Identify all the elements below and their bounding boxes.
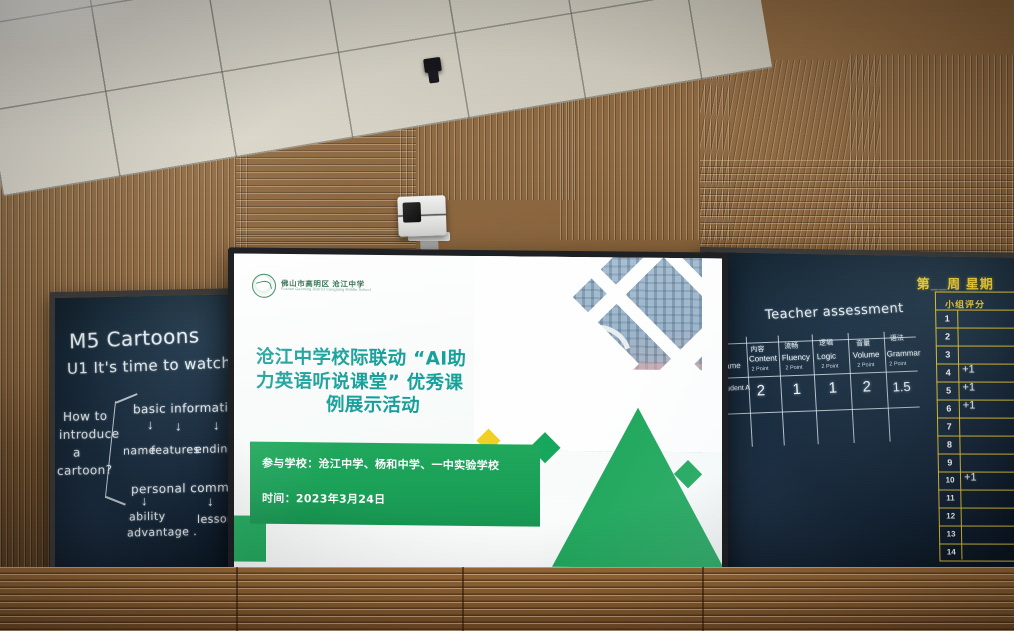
chalk-lesson-title: M5 Cartoons xyxy=(69,323,200,353)
row-number: 13 xyxy=(942,526,960,544)
ceiling-light-glow xyxy=(0,0,160,50)
blackboard-right: Teacher assessment Name 内容 Content 2 Poi… xyxy=(700,247,1014,578)
col-header-fluency-en: Fluency xyxy=(782,352,810,362)
col-header-volume-en: Volume xyxy=(853,350,880,360)
group-grid-mark: +1 xyxy=(962,382,975,394)
chalk-lesson-subtitle: U1 It's time to watch a cartoon. xyxy=(67,350,250,378)
school-logo: 佛山市高明区 沧江中学 Foshan Gaoming District Cang… xyxy=(252,274,371,299)
projector-lens-icon xyxy=(403,202,422,223)
blackboard-left: M5 Cartoons U1 It's time to watch a cart… xyxy=(50,288,250,578)
score-content: 2 xyxy=(756,382,765,399)
row-number: 11 xyxy=(941,490,959,508)
wainscot-section-3 xyxy=(462,567,702,631)
score-fluency: 1 xyxy=(792,381,801,398)
score-logic: 1 xyxy=(828,380,837,397)
teacher-assessment-table: Name 内容 Content 2 Point 流畅 Fluency 2 Poi… xyxy=(716,337,922,454)
score-grammar: 1.5 xyxy=(892,379,911,395)
col-header-logic-cn: 逻辑 xyxy=(819,338,834,349)
row-number: 9 xyxy=(941,453,959,471)
col-header-grammar-en: Grammar xyxy=(886,348,920,358)
col-header-logic-points: 2 Point xyxy=(821,363,838,370)
col-header-fluency-points: 2 Point xyxy=(785,365,802,372)
col-header-grammar-points: 2 Point xyxy=(889,361,906,368)
row-number: 6 xyxy=(940,399,958,417)
group-grid-mark: +1 xyxy=(962,364,975,376)
row-number: 14 xyxy=(942,544,960,562)
row-number: 3 xyxy=(939,345,957,363)
participating-schools: 参与学校：沧江中学、杨和中学、一中实验学校 xyxy=(262,455,499,473)
chalk-branch-features: features xyxy=(151,443,200,457)
school-logo-icon xyxy=(252,274,276,298)
col-header-fluency-cn: 流畅 xyxy=(784,341,799,352)
col-header-content-en: Content xyxy=(749,354,777,364)
row-number: 12 xyxy=(942,508,960,526)
row-number: 4 xyxy=(939,363,957,381)
slide-title-line-2: 力英语听说课堂” 优秀课 xyxy=(256,369,518,395)
chalk-branch-advantage: advantage . xyxy=(127,525,197,539)
chalk-question-line-1: How to xyxy=(63,409,107,424)
chalk-branch-ability: ability xyxy=(129,510,166,524)
wainscot-section-4 xyxy=(702,567,1014,631)
ceiling-camera-icon xyxy=(423,57,442,73)
group-grid-mark: +1 xyxy=(963,400,976,412)
col-header-volume-cn: 音量 xyxy=(856,338,871,349)
row-number: 7 xyxy=(940,417,958,435)
slide-title-line-3: 例展示活动 xyxy=(256,393,518,419)
row-number: 5 xyxy=(939,381,957,399)
wainscot-section-1 xyxy=(0,567,236,631)
presentation-slide[interactable]: 佛山市高明区 沧江中学 Foshan Gaoming District Cang… xyxy=(234,253,722,578)
chalk-teacher-assessment-title: Teacher assessment xyxy=(765,301,905,323)
school-logo-name-en: Foshan Gaoming District Cangjiang Middle… xyxy=(281,288,371,293)
classroom-photo: M5 Cartoons U1 It's time to watch a cart… xyxy=(0,0,1014,631)
chalk-question-line-3: a xyxy=(73,445,81,459)
projector-icon xyxy=(397,195,446,237)
accent-triangle-large xyxy=(552,407,722,569)
wainscot-section-2 xyxy=(236,567,462,631)
event-date: 时间：2023年3月24日 xyxy=(262,490,385,507)
group-grid-header: 第__周 星期 xyxy=(916,273,993,292)
slide-info-band: 参与学校：沧江中学、杨和中学、一中实验学校 时间：2023年3月24日 xyxy=(250,442,540,527)
row-number: 10 xyxy=(941,472,959,490)
col-header-logic-en: Logic xyxy=(817,351,837,361)
group-score-grid: 第__周 星期 小组评分 1 2 3 4 +1 5 +1 6 +1 7 8 9 … xyxy=(935,275,1014,560)
score-volume: 2 xyxy=(862,378,871,395)
row-number: 1 xyxy=(938,309,956,327)
col-header-content-cn: 内容 xyxy=(750,344,765,355)
col-header-volume-points: 2 Point xyxy=(857,362,874,369)
col-header-grammar-cn: 语法 xyxy=(890,333,905,344)
slide-title-line-1: 沧江中学校际联动 “AI助 xyxy=(256,346,518,372)
smart-display[interactable]: 佛山市高明区 沧江中学 Foshan Gaoming District Cang… xyxy=(228,247,728,584)
slide-title: 沧江中学校际联动 “AI助 力英语听说课堂” 优秀课 例展示活动 xyxy=(256,346,518,420)
group-grid-mark: +1 xyxy=(964,472,977,484)
col-header-content-points: 2 Point xyxy=(751,366,768,373)
chalk-question-line-4: cartoon? xyxy=(57,463,112,478)
row-number: 8 xyxy=(940,435,958,453)
wood-wainscot xyxy=(0,567,1014,631)
row-number: 2 xyxy=(938,327,956,345)
